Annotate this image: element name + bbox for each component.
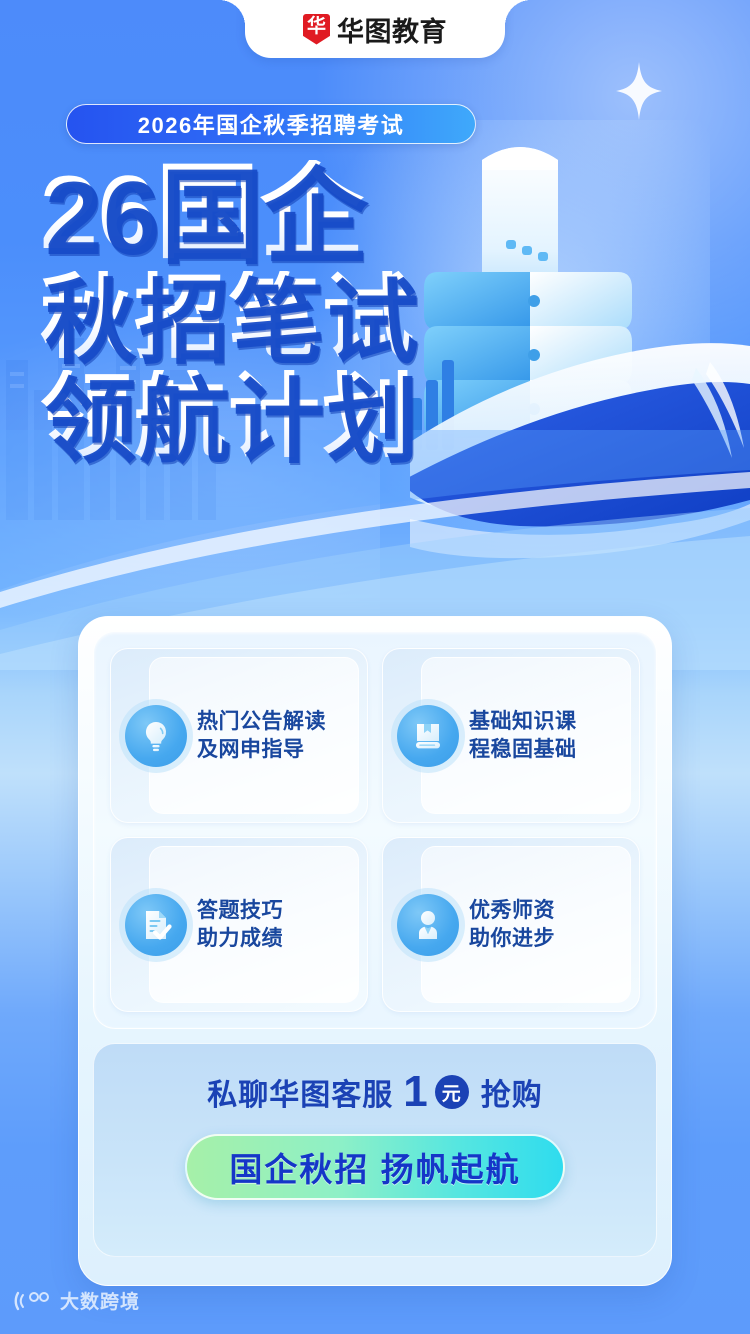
feature-text: 基础知识课 程稳固基础 (469, 708, 577, 763)
brand-name: 华图教育 (337, 10, 447, 49)
cta-panel: 私聊华图客服 1 元 抢购 国企秋招 扬帆起航 (93, 1043, 657, 1257)
sparkle-icon (616, 62, 662, 120)
yuan-badge: 元 (435, 1075, 469, 1109)
feature-line-1: 热门公告解读 (197, 708, 326, 736)
cta-price: 1 (403, 1070, 428, 1114)
exam-badge: 2026年国企秋季招聘考试 (66, 104, 476, 144)
headline-line-1: 26国企 (40, 160, 416, 267)
watermark-text: 大数跨境 (60, 1287, 140, 1314)
feature-line-1: 基础知识课 (469, 708, 577, 736)
headline-line-2: 秋招笔试 (40, 271, 416, 366)
teacher-icon (397, 894, 459, 956)
hero-headline: 26国企 秋招笔试 领航计划 (40, 160, 416, 465)
watermark: 大数跨境 (14, 1287, 140, 1314)
shield-logo-icon: 华 (303, 14, 330, 45)
feature-line-1: 优秀师资 (469, 897, 555, 925)
feature-card[interactable]: 热门公告解读 及网申指导 (110, 648, 368, 823)
feature-line-2: 助你进步 (469, 925, 555, 953)
brand-logo-bar: 华 华图教育 (245, 0, 505, 58)
book-icon (397, 705, 459, 767)
poster-root: 华 华图教育 2026年国企秋季招聘考试 26国企 秋招笔试 领航计划 (0, 0, 750, 1334)
feature-line-2: 及网申指导 (197, 736, 326, 764)
feature-line-2: 程稳固基础 (469, 736, 577, 764)
dashu-logo-icon (14, 1291, 54, 1311)
exam-badge-label: 2026年国企秋季招聘考试 (138, 108, 404, 140)
cta-button[interactable]: 国企秋招 扬帆起航 (185, 1134, 565, 1200)
document-check-icon (125, 894, 187, 956)
feature-text: 优秀师资 助你进步 (469, 897, 555, 952)
cta-button-label: 国企秋招 扬帆起航 (229, 1143, 520, 1191)
feature-text: 热门公告解读 及网申指导 (197, 708, 326, 763)
main-content-panel: 热门公告解读 及网申指导 基础知识课 (78, 616, 672, 1286)
feature-card[interactable]: 基础知识课 程稳固基础 (382, 648, 640, 823)
lightbulb-icon (125, 705, 187, 767)
feature-text: 答题技巧 助力成绩 (197, 897, 283, 952)
cta-price-line: 私聊华图客服 1 元 抢购 (207, 1070, 542, 1114)
cta-prefix: 私聊华图客服 (207, 1070, 393, 1114)
feature-line-1: 答题技巧 (197, 897, 283, 925)
cta-suffix: 抢购 (481, 1070, 543, 1114)
feature-line-2: 助力成绩 (197, 925, 283, 953)
feature-card[interactable]: 答题技巧 助力成绩 (110, 837, 368, 1012)
feature-card[interactable]: 优秀师资 助你进步 (382, 837, 640, 1012)
book-ship-illustration (410, 130, 750, 560)
feature-grid: 热门公告解读 及网申指导 基础知识课 (93, 631, 657, 1029)
headline-line-3: 领航计划 (40, 370, 416, 465)
